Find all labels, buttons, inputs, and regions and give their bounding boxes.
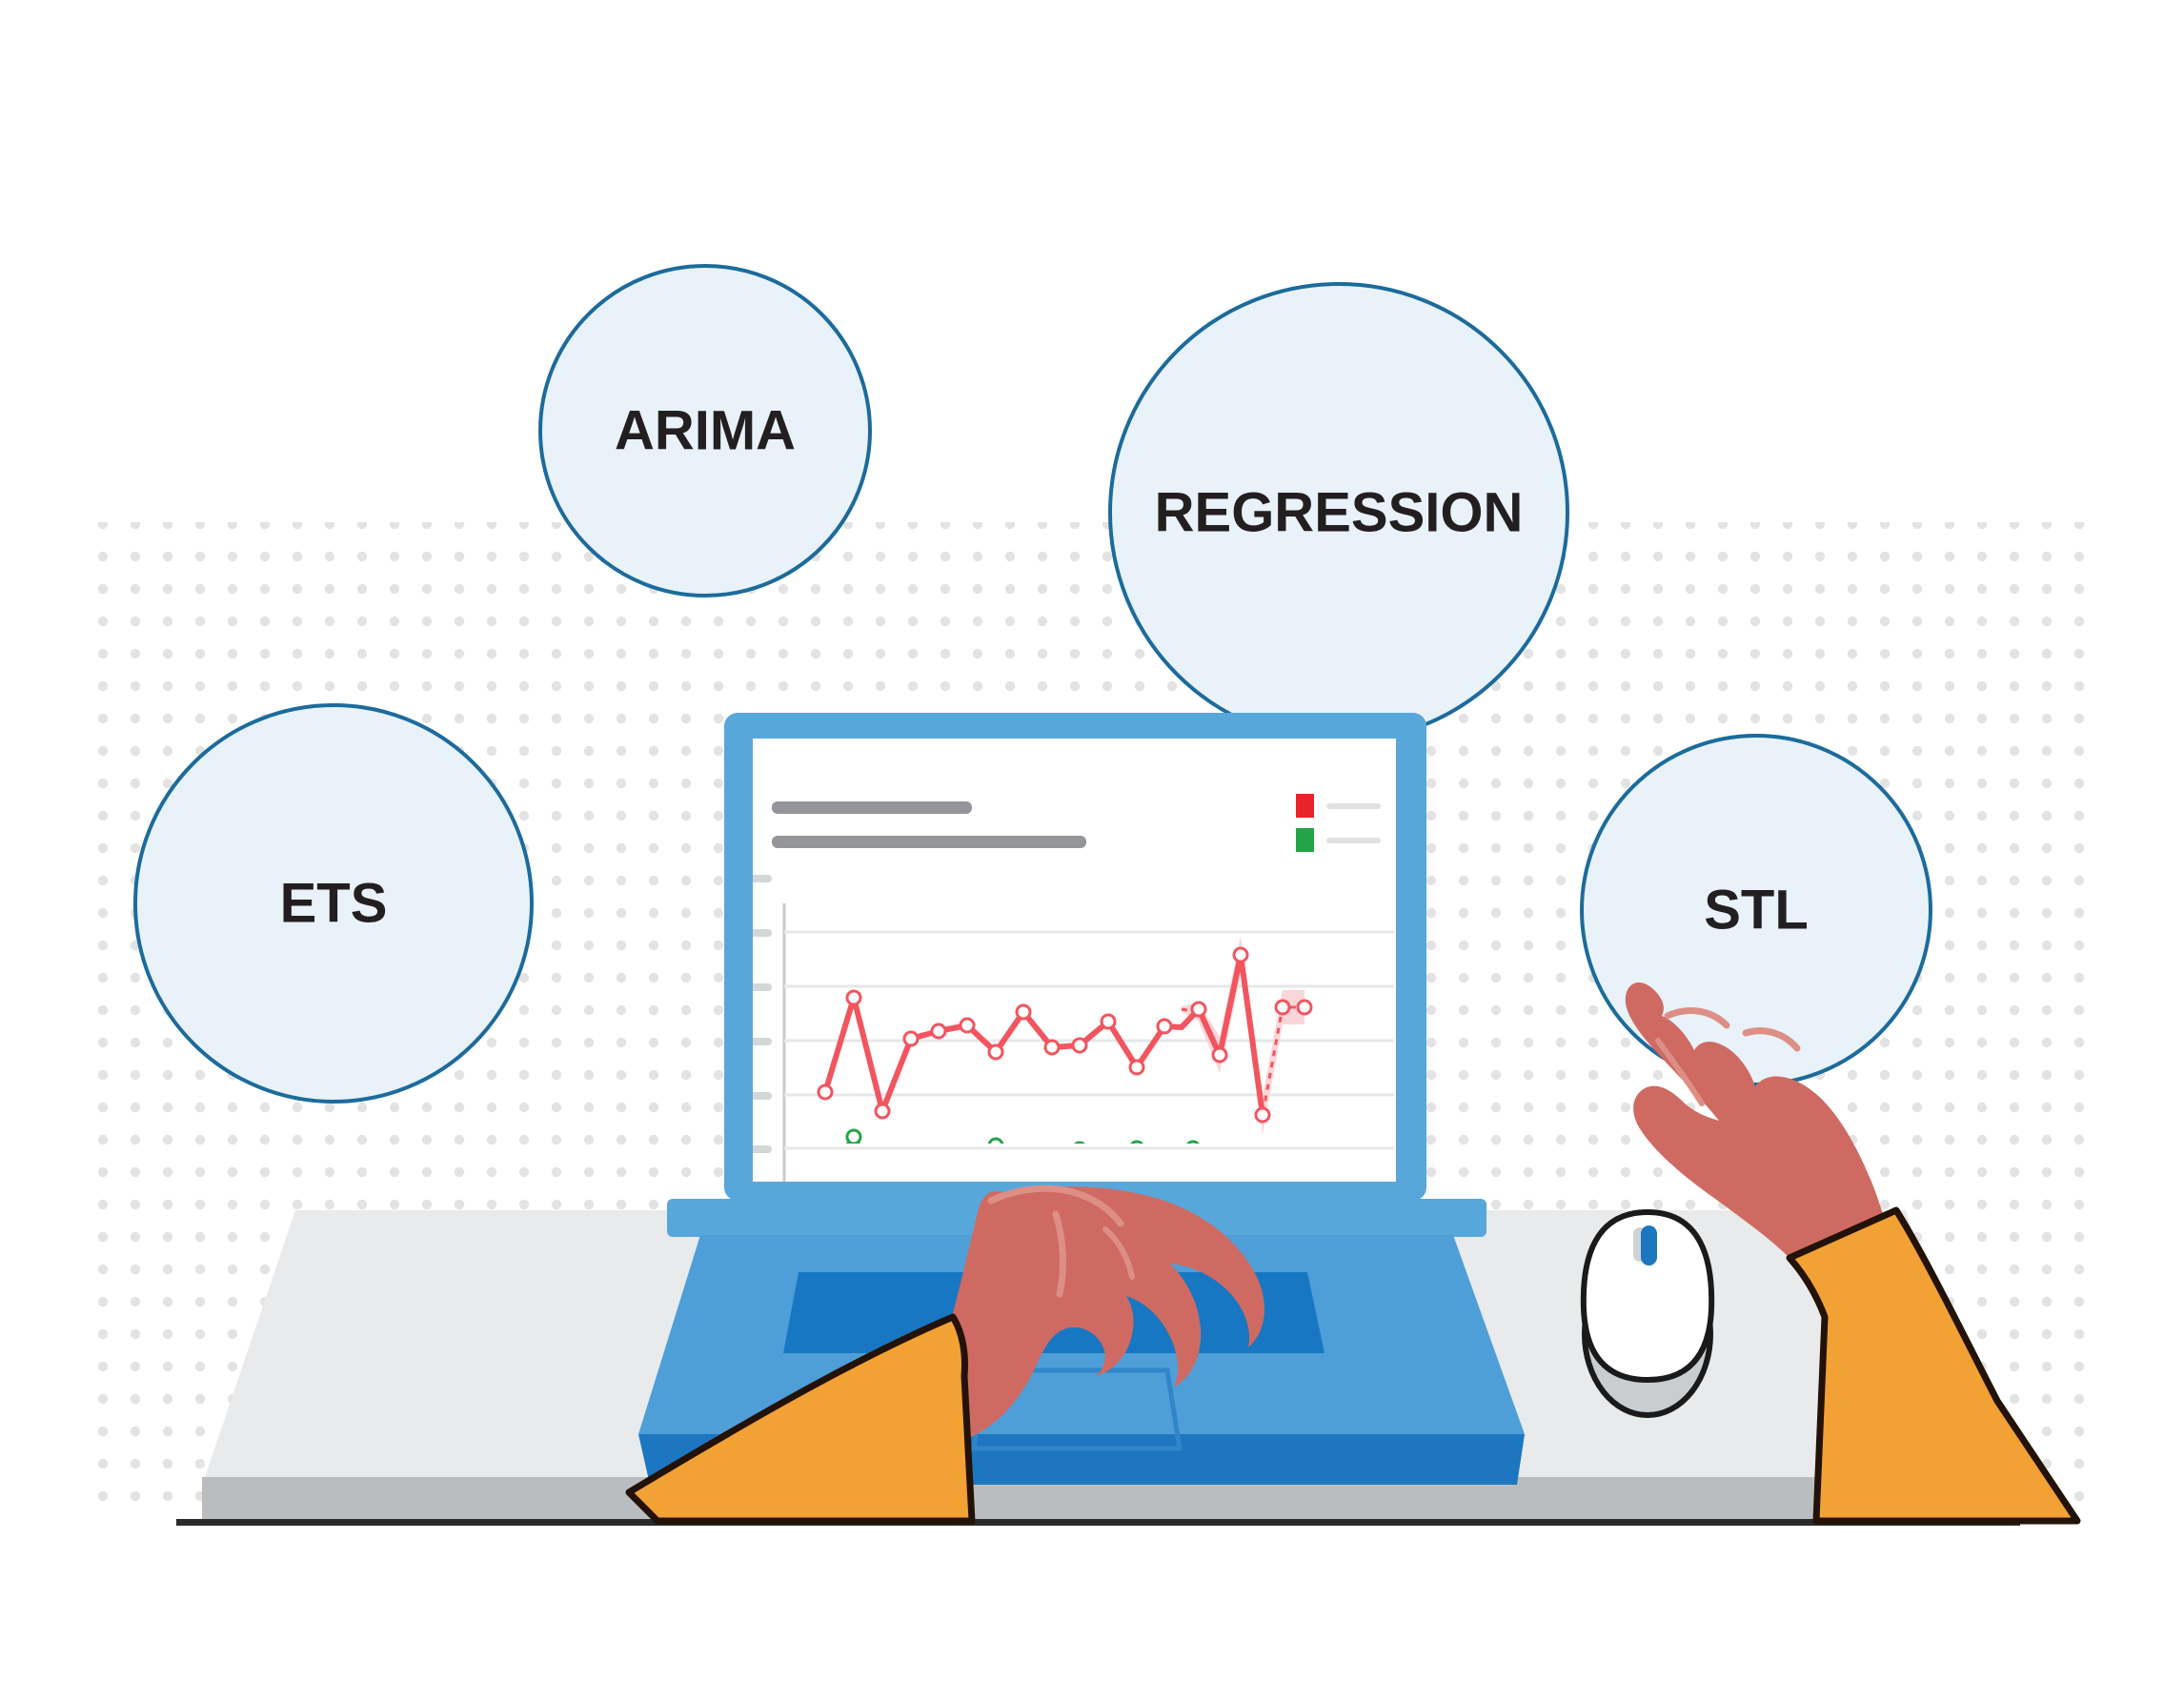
- mouse-scroll-wheel[interactable]: [1641, 1225, 1657, 1266]
- desk-shadow-line: [176, 1519, 2020, 1526]
- screen-title-bar-1: [772, 801, 972, 814]
- legend-swatch-red: [1296, 794, 1314, 818]
- bubble-ets[interactable]: ETS: [135, 705, 532, 1102]
- bubble-regression[interactable]: REGRESSION: [1110, 284, 1567, 741]
- computer-mouse[interactable]: [1584, 1212, 1711, 1415]
- legend-label-red-placeholder: [1326, 803, 1381, 809]
- bubble-ets-label: ETS: [280, 873, 388, 935]
- legend-label-green-placeholder: [1326, 838, 1381, 843]
- bubble-arima[interactable]: ARIMA: [540, 266, 870, 596]
- illustration-canvas: ARIMA REGRESSION ETS STL: [0, 0, 2184, 1681]
- bubble-stl-label: STL: [1704, 880, 1809, 942]
- screen-title-bar-2: [772, 836, 1086, 848]
- bubble-regression-label: REGRESSION: [1155, 482, 1524, 544]
- laptop: [638, 713, 1525, 1485]
- bubble-arima-label: ARIMA: [615, 400, 796, 462]
- legend-swatch-green: [1296, 828, 1314, 852]
